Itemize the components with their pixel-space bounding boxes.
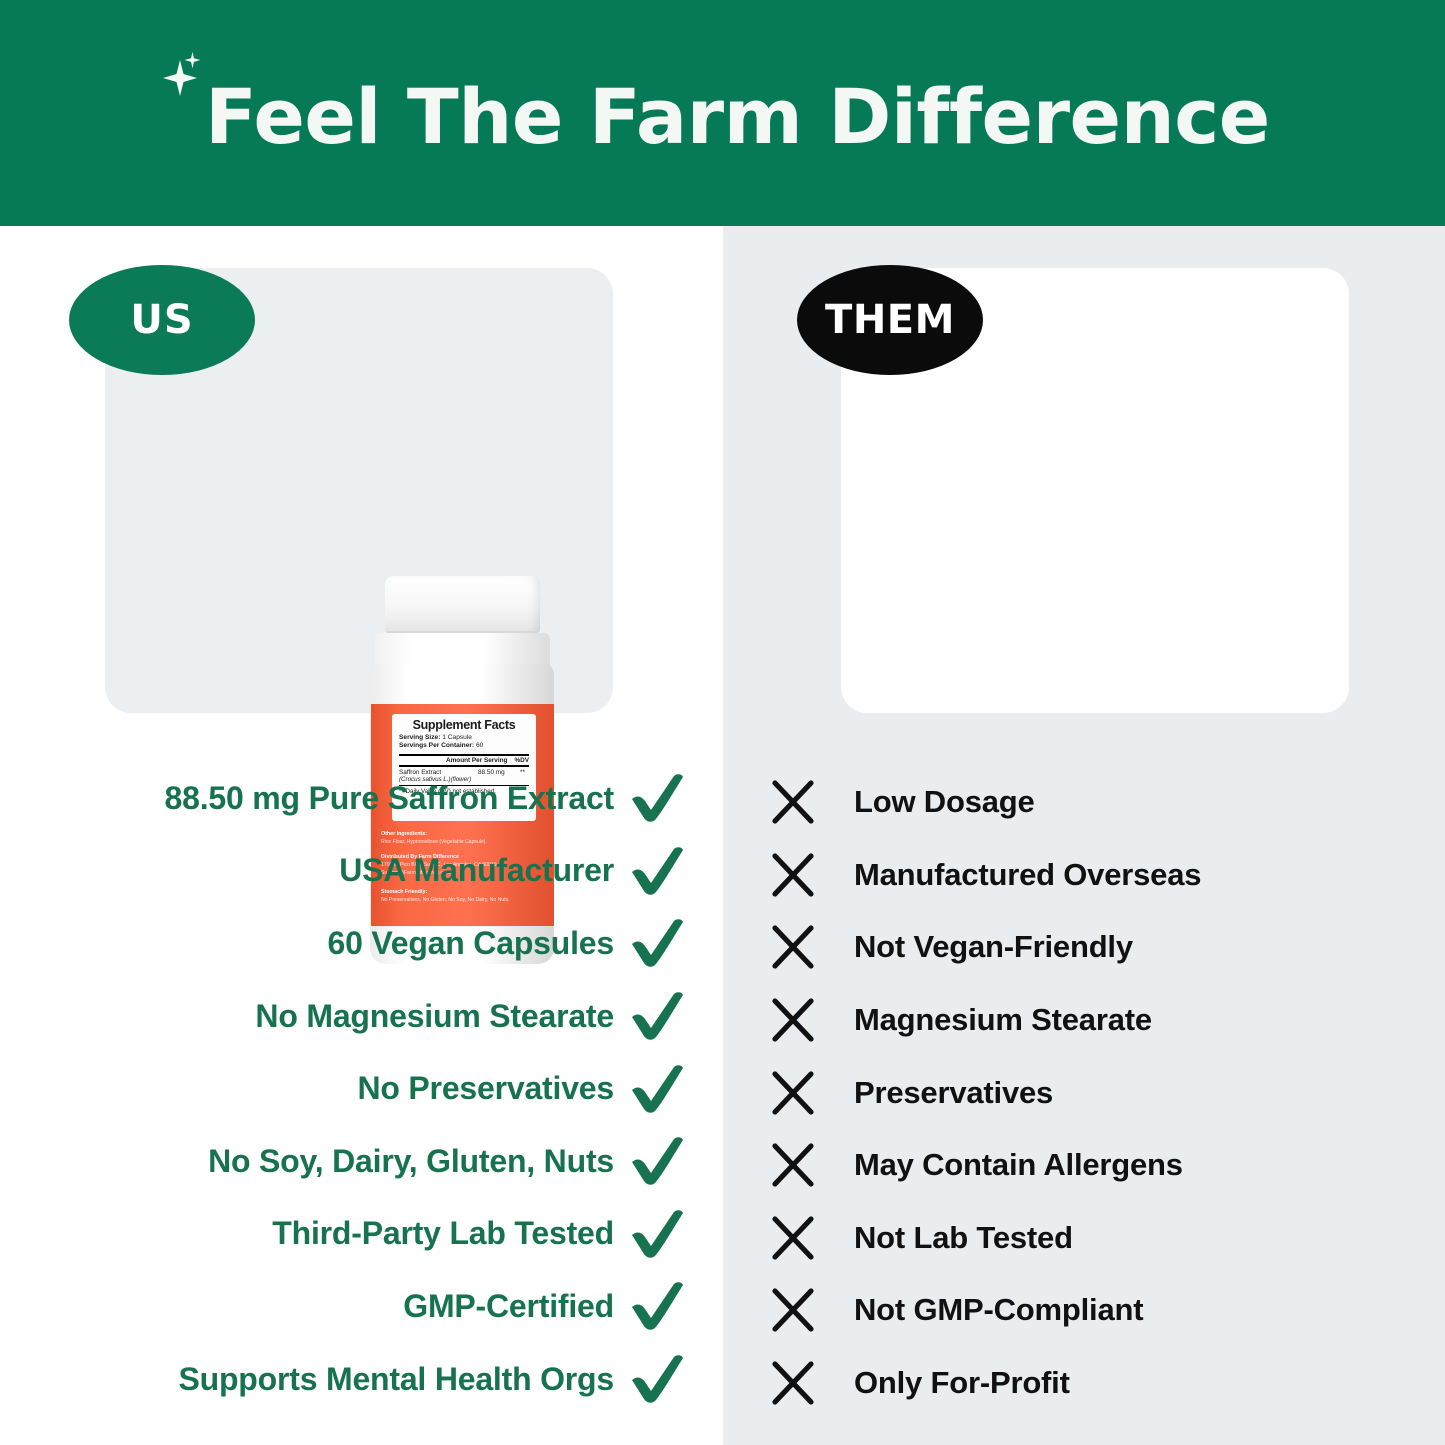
them-feature-label: Only For-Profit <box>854 1365 1070 1401</box>
check-icon <box>629 918 685 968</box>
check-icon <box>629 773 685 823</box>
check-icon <box>629 1209 685 1259</box>
check-icon <box>629 1136 685 1186</box>
them-x-mark <box>770 925 854 969</box>
us-feature-label: Third-Party Lab Tested <box>272 1215 614 1252</box>
them-feature-label: Manufactured Overseas <box>854 857 1201 893</box>
us-feature-row: Supports Mental Health Orgs <box>60 1343 700 1416</box>
them-feature-row: Only For-Profit <box>770 1347 1410 1420</box>
us-feature-row: GMP-Certified <box>60 1270 700 1343</box>
servings-per-container-line: Servings Per Container: 60 <box>399 742 529 751</box>
them-feature-row: Not Vegan-Friendly <box>770 911 1410 984</box>
them-feature-row: Not GMP-Compliant <box>770 1274 1410 1347</box>
us-feature-label: Supports Mental Health Orgs <box>178 1361 614 1398</box>
them-x-mark <box>770 998 854 1042</box>
them-feature-row: Not Lab Tested <box>770 1202 1410 1275</box>
them-feature-row: Low Dosage <box>770 766 1410 839</box>
x-icon <box>770 853 814 897</box>
them-x-mark <box>770 1071 854 1115</box>
check-icon <box>629 846 685 896</box>
x-icon <box>770 1143 814 1187</box>
us-feature-row: No Preservatives <box>60 1052 700 1125</box>
them-feature-row: Magnesium Stearate <box>770 984 1410 1057</box>
us-feature-label: USA Manufacturer <box>339 852 614 889</box>
servings-per-container-value: 60 <box>476 742 483 749</box>
us-feature-row: 60 Vegan Capsules <box>60 907 700 980</box>
us-feature-label: 60 Vegan Capsules <box>327 925 614 962</box>
them-x-mark <box>770 780 854 824</box>
us-check-mark <box>614 1136 700 1186</box>
us-check-mark <box>614 918 700 968</box>
servings-per-container-label: Servings Per Container: <box>399 742 474 749</box>
us-feature-label: No Magnesium Stearate <box>255 998 614 1035</box>
serving-size-value: 1 Capsule <box>442 734 472 741</box>
them-feature-row: Manufactured Overseas <box>770 839 1410 912</box>
us-check-mark <box>614 991 700 1041</box>
us-check-mark <box>614 1209 700 1259</box>
us-feature-row: No Magnesium Stearate <box>60 980 700 1053</box>
them-badge: THEM <box>797 265 983 375</box>
us-check-mark <box>614 846 700 896</box>
them-x-mark <box>770 853 854 897</box>
us-feature-row: USA Manufacturer <box>60 835 700 908</box>
us-check-mark <box>614 1281 700 1331</box>
x-icon <box>770 1288 814 1332</box>
x-icon <box>770 780 814 824</box>
us-feature-label: 88.50 mg Pure Saffron Extract <box>165 780 614 817</box>
infographic-page: Feel The Farm Difference Supplement Fact… <box>0 0 1445 1445</box>
them-feature-label: Magnesium Stearate <box>854 1002 1152 1038</box>
them-feature-label: Preservatives <box>854 1075 1053 1111</box>
serving-size-label: Serving Size: <box>399 734 440 741</box>
us-feature-row: 88.50 mg Pure Saffron Extract <box>60 762 700 835</box>
them-feature-label: Low Dosage <box>854 784 1035 820</box>
us-feature-row: No Soy, Dairy, Gluten, Nuts <box>60 1125 700 1198</box>
header-banner: Feel The Farm Difference <box>0 0 1445 226</box>
check-icon <box>629 1354 685 1404</box>
serving-size-line: Serving Size: 1 Capsule <box>399 734 529 743</box>
page-title: Feel The Farm Difference <box>205 72 1270 161</box>
x-icon <box>770 998 814 1042</box>
us-feature-label: No Preservatives <box>357 1070 614 1107</box>
them-feature-label: Not Vegan-Friendly <box>854 929 1133 965</box>
us-feature-label: No Soy, Dairy, Gluten, Nuts <box>208 1143 614 1180</box>
us-check-mark <box>614 773 700 823</box>
them-feature-label: Not GMP-Compliant <box>854 1292 1143 1328</box>
them-badge-label: THEM <box>825 297 955 343</box>
bottle-cap <box>385 576 540 634</box>
them-feature-label: May Contain Allergens <box>854 1147 1183 1183</box>
them-x-mark <box>770 1216 854 1260</box>
them-feature-label: Not Lab Tested <box>854 1220 1073 1256</box>
them-x-mark <box>770 1361 854 1405</box>
x-icon <box>770 1361 814 1405</box>
check-icon <box>629 991 685 1041</box>
us-badge-label: US <box>130 297 193 343</box>
x-icon <box>770 1216 814 1260</box>
supplement-facts-title: Supplement Facts <box>399 719 529 732</box>
x-icon <box>770 925 814 969</box>
x-icon <box>770 1071 814 1115</box>
divider-thick <box>399 754 529 757</box>
us-feature-label: GMP-Certified <box>403 1288 614 1325</box>
us-badge: US <box>69 265 255 375</box>
them-x-mark <box>770 1143 854 1187</box>
check-icon <box>629 1281 685 1331</box>
us-check-mark <box>614 1064 700 1114</box>
us-feature-list: 88.50 mg Pure Saffron ExtractUSA Manufac… <box>60 762 700 1415</box>
check-icon <box>629 1064 685 1114</box>
them-feature-list: Low DosageManufactured OverseasNot Vegan… <box>770 766 1410 1419</box>
them-x-mark <box>770 1288 854 1332</box>
them-feature-row: May Contain Allergens <box>770 1129 1410 1202</box>
them-feature-row: Preservatives <box>770 1056 1410 1129</box>
us-check-mark <box>614 1354 700 1404</box>
us-feature-row: Third-Party Lab Tested <box>60 1198 700 1271</box>
